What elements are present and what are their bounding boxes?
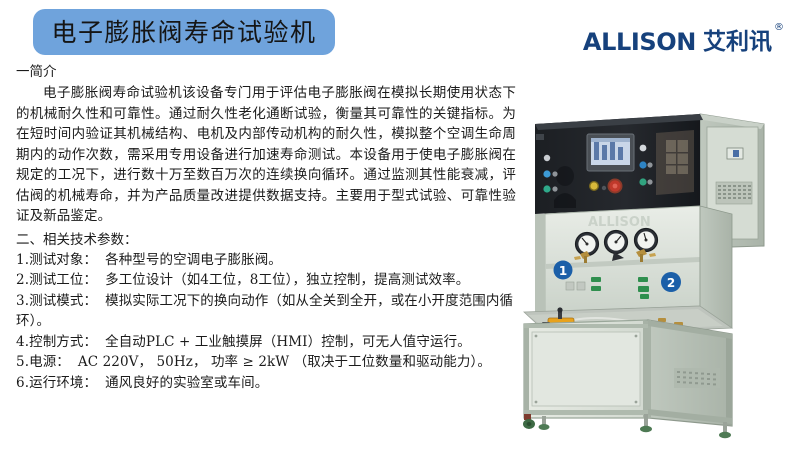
specs-list: 1.测试对象：各种型号的空调电子膨胀阀。 2.测试工位：多工位设计（如4工位，8… [16, 250, 516, 394]
screw-icon [535, 401, 538, 404]
base-vent-grille-icon [674, 368, 720, 388]
spec-number: 5. [16, 354, 29, 370]
page-title-banner: 电子膨胀阀寿命试验机 [33, 9, 335, 55]
pressure-gauge [605, 231, 628, 254]
bench-left-edge [535, 214, 545, 318]
list-item: 5.电源：AC 220V， 50Hz， 功率 ≥ 2kW （取决于工位数量和驱动… [16, 352, 516, 373]
frame-upright [524, 324, 529, 418]
spec-label: 控制方式： [29, 334, 97, 350]
frame-rail [524, 324, 648, 328]
spec-label: 测试对象： [29, 252, 97, 268]
spec-number: 1. [16, 252, 29, 268]
specs-heading: 二、相关技术参数： [16, 230, 516, 250]
spec-value: AC 220V， 50Hz， 功率 ≥ 2kW （取决于工位数量和驱动能力）。 [78, 354, 491, 370]
content-text-column: 一简介 电子膨胀阀寿命试验机该设备专门用于评估电子膨胀阀在模拟长期使用状态下的机… [16, 62, 516, 393]
panel-reflection [656, 130, 694, 195]
hmi-touchscreen[interactable] [587, 134, 634, 171]
spec-number: 6. [16, 375, 29, 391]
page-title: 电子膨胀阀寿命试验机 [51, 20, 316, 45]
intro-paragraph: 电子膨胀阀寿命试验机该设备专门用于评估电子膨胀阀在模拟长期使用状态下的机械耐久性… [16, 83, 516, 227]
spec-value: 多工位设计（如4工位，8工位），独立控制，提高测试效率。 [105, 272, 469, 288]
screw-icon [635, 335, 638, 338]
spec-label: 测试模式： [29, 293, 97, 309]
frame-rail [524, 410, 648, 415]
slide-page: 电子膨胀阀寿命试验机 ALLISON 艾利讯 ® 一简介 电子膨胀阀寿命试验机该… [0, 0, 800, 450]
intro-heading: 一简介 [16, 62, 516, 82]
breaker-panel-icon[interactable] [727, 148, 743, 159]
registered-trademark-icon: ® [774, 23, 784, 33]
frame-upright [643, 320, 651, 418]
spec-value: 各种型号的空调电子膨胀阀。 [105, 252, 282, 268]
list-item: 6.运行环境：通风良好的实验室或车间。 [16, 373, 516, 394]
reset-button[interactable] [602, 186, 606, 190]
pressure-gauge [635, 229, 658, 252]
base-cabinet [524, 320, 732, 426]
frame-upright [726, 333, 732, 426]
spec-label: 电源： [29, 354, 70, 370]
list-item: 1.测试对象：各种型号的空调电子膨胀阀。 [16, 250, 516, 271]
bench-brand-watermark: ALLISON [588, 215, 651, 230]
brand-logo: ALLISON 艾利讯 ® [583, 29, 784, 55]
spec-number: 2. [16, 272, 29, 288]
list-item: 2.测试工位：多工位设计（如4工位，8工位），独立控制，提高测试效率。 [16, 270, 516, 291]
brand-name-chinese: 艾利讯 [703, 29, 772, 55]
emergency-stop-button[interactable] [608, 179, 623, 194]
screw-icon [535, 335, 538, 338]
list-item: 4.控制方式：全自动PLC + 工业触摸屏（HMI）控制，可无人值守运行。 [16, 332, 516, 353]
start-button[interactable] [589, 181, 599, 191]
machine-photo: ALLISON [518, 96, 800, 444]
vent-grille-icon [716, 182, 752, 204]
station-badge-2: 2 [661, 272, 681, 292]
spec-number: 4. [16, 334, 29, 350]
brand-name-english: ALLISON [583, 29, 696, 55]
spec-label: 运行环境： [29, 375, 97, 391]
base-cabinet-door[interactable] [532, 332, 640, 406]
spec-value: 全自动PLC + 工业触摸屏（HMI）控制，可无人值守运行。 [105, 334, 471, 350]
screw-icon [635, 401, 638, 404]
station-badge-label: 2 [667, 276, 675, 290]
station-badge-label: 1 [559, 264, 567, 278]
spec-value: 通风良好的实验室或车间。 [105, 375, 268, 391]
spec-label: 测试工位： [29, 272, 97, 288]
station-badge-1: 1 [554, 261, 573, 280]
list-item: 3.测试模式：模拟实际工况下的换向动作（如从全关到全开，或在小开度范围内循环）。 [16, 291, 516, 332]
spec-number: 3. [16, 293, 29, 309]
